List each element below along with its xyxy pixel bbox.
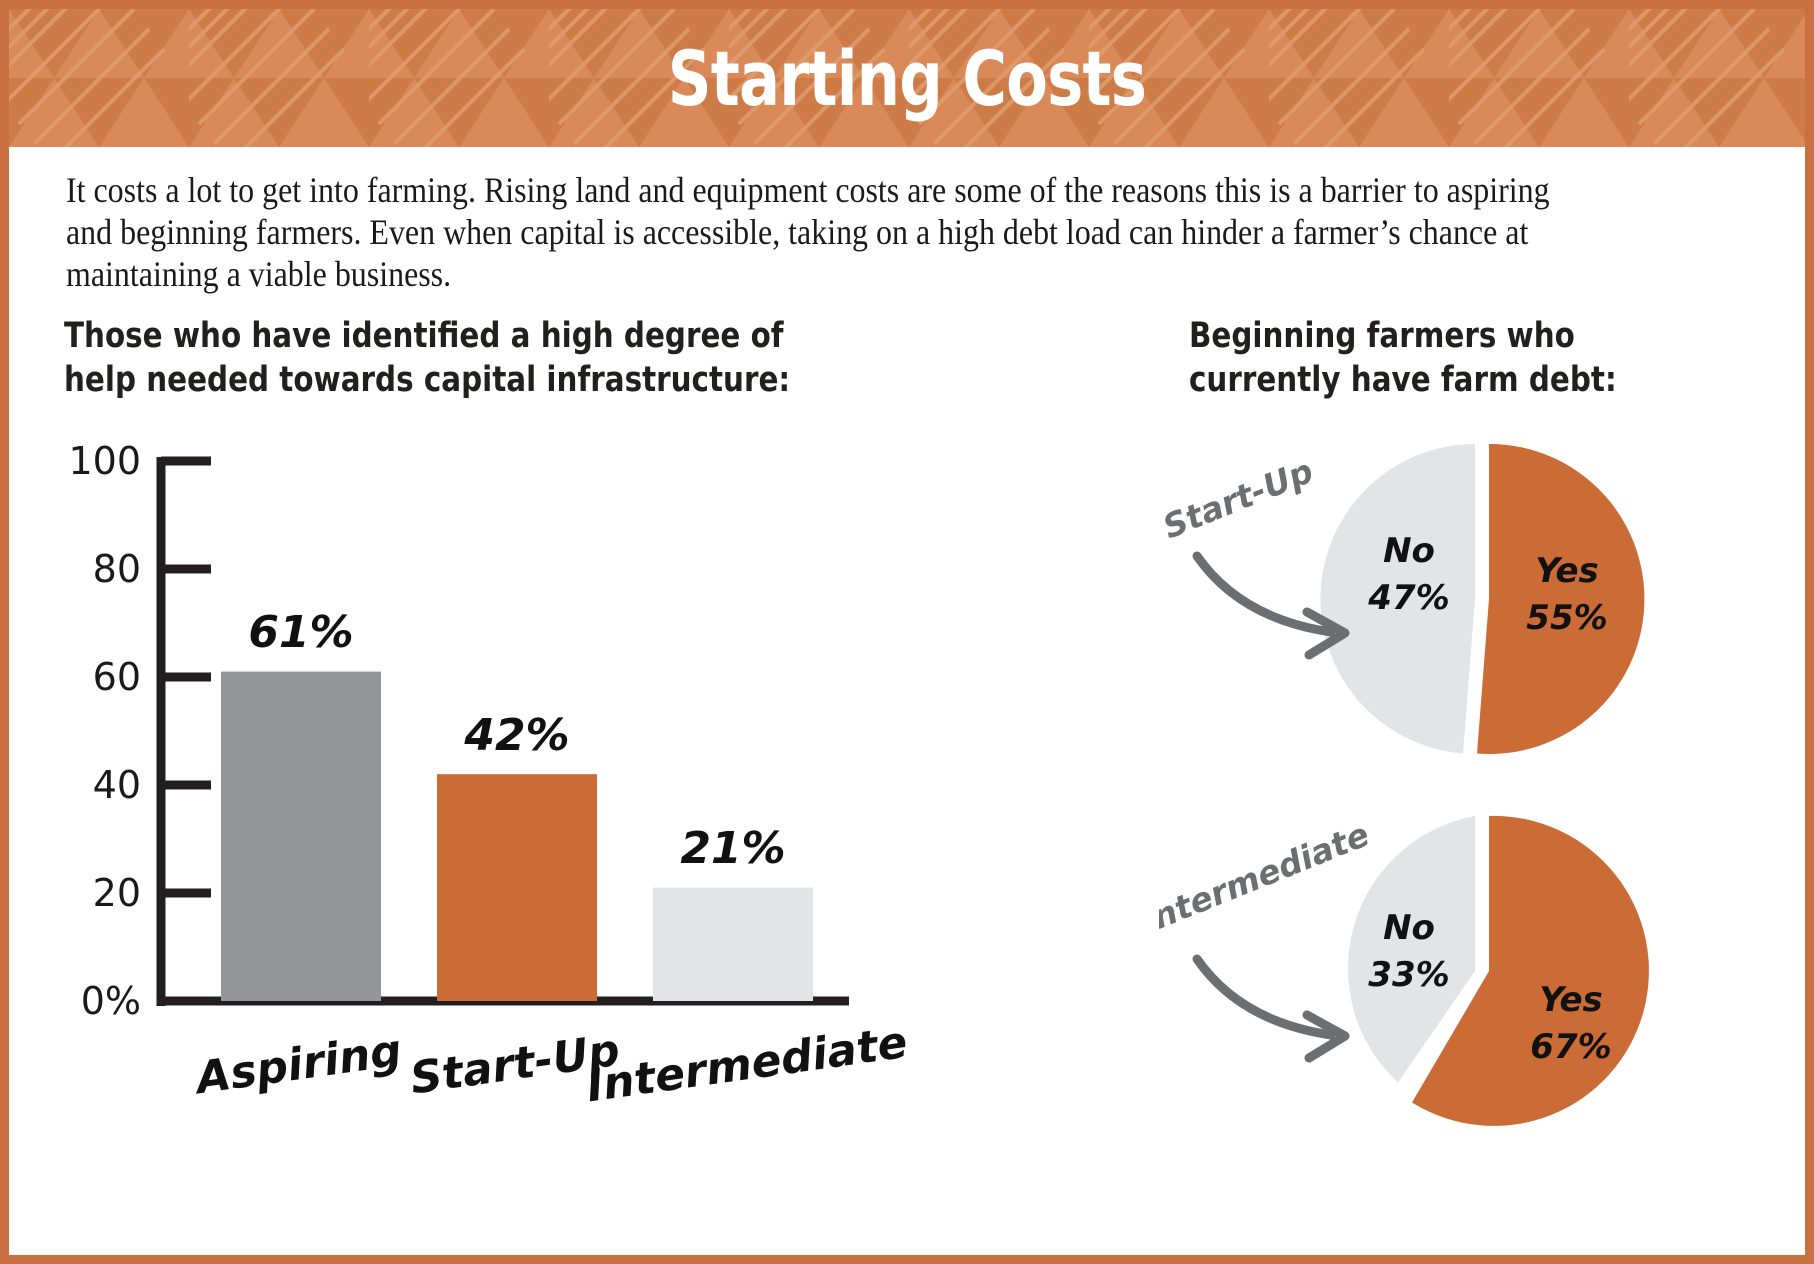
pie-yes-value-startup: 55% [1526, 598, 1607, 638]
y-tick-60: 60 [93, 655, 141, 699]
pie-no-label-intermediate: No [1383, 908, 1435, 948]
pie-callout-intermediate: Intermediate [1159, 814, 1375, 941]
cat-label-aspiring: Aspiring [190, 1025, 404, 1105]
y-tick-100: 100 [68, 439, 141, 483]
y-axis-tick-labels: 100 80 60 40 20 0% [68, 439, 141, 1023]
bar-value-aspiring: 61% [248, 607, 353, 658]
pie-yes-label-startup: Yes [1535, 551, 1599, 591]
x-axis-category-labels: Aspiring Start-Up Intermediate [190, 1017, 910, 1112]
y-tick-0: 0% [81, 979, 141, 1023]
bar-value-startup: 42% [463, 710, 569, 761]
page-title: Starting Costs [189, 9, 1626, 147]
y-tick-20: 20 [93, 871, 141, 915]
bar-value-intermediate: 21% [680, 823, 785, 874]
pie-chart-startup: No 47% Yes 55% Start-Up [1159, 434, 1799, 764]
right-section-heading: Beginning farmers who currently have far… [1189, 314, 1777, 402]
y-tick-80: 80 [93, 547, 141, 591]
pie-chart-intermediate: No 33% Yes 67% Intermediate [1159, 799, 1799, 1139]
header-banner: Starting Costs [9, 9, 1805, 147]
pie-no-label-startup: No [1383, 531, 1435, 571]
bar-startup: 42% [437, 710, 597, 1001]
y-tick-40: 40 [93, 763, 141, 807]
pie-yes-label-intermediate: Yes [1539, 980, 1603, 1020]
intro-paragraph: It costs a lot to get into farming. Risi… [66, 169, 1596, 295]
pie-callout-startup: Start-Up [1159, 451, 1318, 546]
bar-aspiring: 61% [221, 607, 381, 1001]
bar-intermediate: 21% [653, 823, 813, 1001]
y-axis [161, 457, 211, 1006]
cat-label-intermediate: Intermediate [583, 1017, 910, 1112]
pie-no-value-startup: 47% [1367, 578, 1449, 618]
bar-chart: 100 80 60 40 20 0% [49, 439, 929, 1199]
curved-arrow-icon [1197, 959, 1345, 1058]
infographic-root: Starting Costs It costs a lot to get int… [0, 0, 1814, 1264]
pie-no-value-intermediate: 33% [1368, 955, 1449, 995]
left-section-heading: Those who have identified a high degree … [64, 314, 904, 402]
pie-yes-value-intermediate: 67% [1530, 1027, 1611, 1067]
